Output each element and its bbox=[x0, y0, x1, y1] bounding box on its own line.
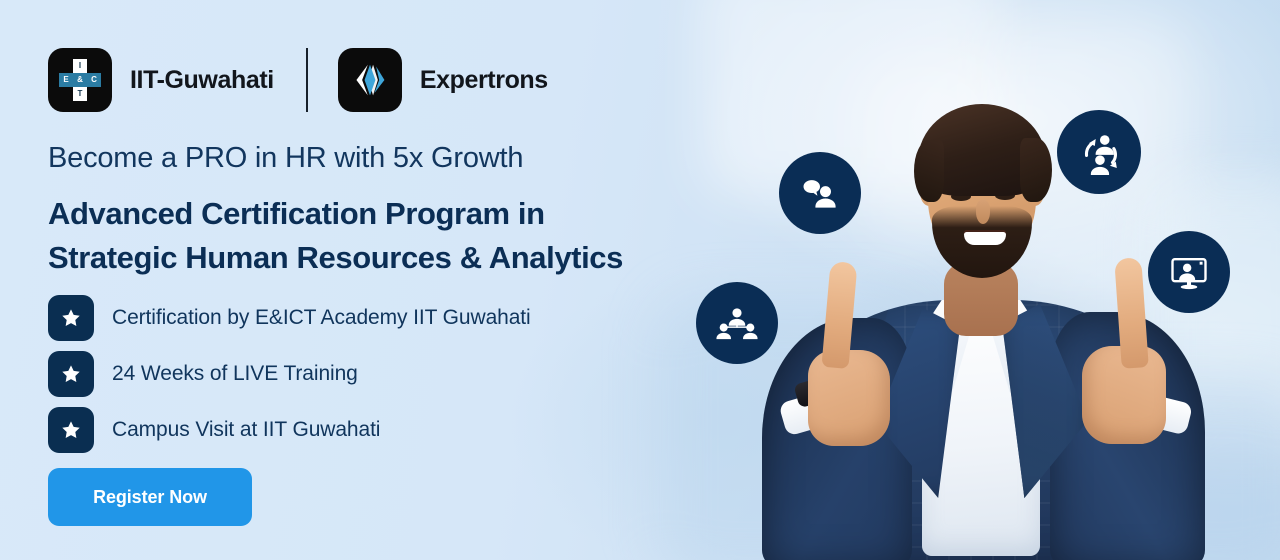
team-network-icon bbox=[696, 282, 778, 364]
hair-side-left bbox=[914, 140, 944, 202]
monitor-person-icon bbox=[1148, 231, 1230, 313]
feature-label: Certification by E&ICT Academy IIT Guwah… bbox=[112, 306, 531, 330]
hair-side-right bbox=[1020, 138, 1052, 202]
expertrons-label: Expertrons bbox=[420, 66, 548, 95]
partner-logo-row: I E & C T IIT-Guwahati Expertrons bbox=[48, 48, 548, 112]
eict-tile-top: I bbox=[73, 59, 87, 73]
iit-guwahati-label: IIT-Guwahati bbox=[130, 66, 274, 95]
headline-line-2: Strategic Human Resources & Analytics bbox=[48, 236, 623, 280]
feature-label: Campus Visit at IIT Guwahati bbox=[112, 418, 380, 442]
eict-tile-bottom: T bbox=[73, 87, 87, 101]
list-item: Certification by E&ICT Academy IIT Guwah… bbox=[48, 290, 531, 346]
headline-line-1: Advanced Certification Program in bbox=[48, 192, 623, 236]
chat-person-icon bbox=[779, 152, 861, 234]
star-icon bbox=[48, 295, 94, 341]
iit-guwahati-eict-cross-logo: I E & C T bbox=[48, 48, 112, 112]
logo-divider bbox=[306, 48, 308, 112]
smile bbox=[964, 232, 1006, 245]
eict-tile-left: E bbox=[59, 73, 73, 87]
expertrons-diamond-logo bbox=[338, 48, 402, 112]
page-title: Advanced Certification Program in Strate… bbox=[48, 192, 623, 280]
eict-cross-mark: I E & C T bbox=[58, 58, 102, 102]
people-cycle-icon bbox=[1057, 110, 1141, 194]
hand-left bbox=[808, 350, 890, 446]
nose bbox=[976, 200, 990, 224]
list-item: Campus Visit at IIT Guwahati bbox=[48, 402, 531, 458]
feature-label: 24 Weeks of LIVE Training bbox=[112, 362, 358, 386]
star-icon bbox=[48, 407, 94, 453]
star-icon bbox=[48, 351, 94, 397]
register-now-button[interactable]: Register Now bbox=[48, 468, 252, 526]
eict-tile-center: & bbox=[73, 73, 87, 87]
list-item: 24 Weeks of LIVE Training bbox=[48, 346, 531, 402]
promotional-banner: I E & C T IIT-Guwahati Expertrons Become… bbox=[0, 0, 1280, 560]
feature-list: Certification by E&ICT Academy IIT Guwah… bbox=[48, 290, 531, 458]
kicker-text: Become a PRO in HR with 5x Growth bbox=[48, 142, 523, 175]
eict-tile-right: C bbox=[87, 73, 101, 87]
